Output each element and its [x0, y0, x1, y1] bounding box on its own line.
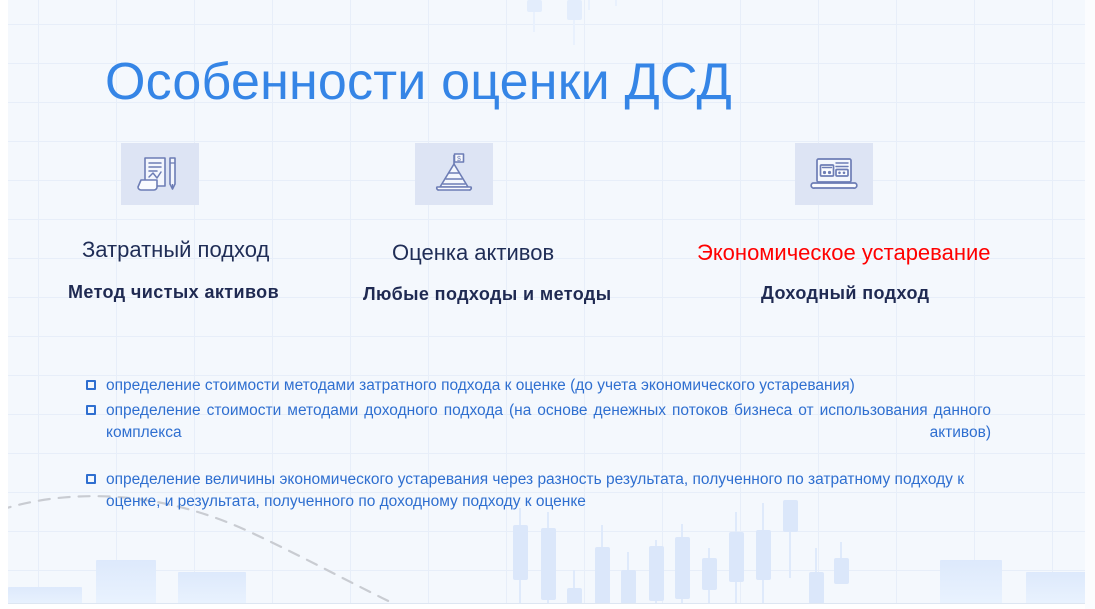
candlestick-wick: [840, 542, 842, 582]
hollow-square-bullet-icon: [86, 380, 96, 390]
list-item: определение стоимости методами доходного…: [86, 400, 991, 466]
slide-left-margin: [0, 0, 8, 609]
presentation-slide: Особенности оценки ДСД Затратный подход …: [0, 0, 1095, 609]
bar-block: [940, 560, 1002, 607]
grid-line-vertical: [38, 0, 39, 609]
slide-right-margin: [1085, 0, 1095, 609]
candlestick-wick: [588, 0, 590, 10]
candlestick-body: [513, 525, 528, 580]
list-item: определение стоимости методами затратног…: [86, 375, 991, 397]
column-subcaption-cost: Метод чистых активов: [68, 282, 279, 303]
chart-baseline: [0, 603, 1095, 604]
svg-text:$: $: [457, 156, 461, 163]
pyramid-with-dollar-flag-icon: $: [415, 143, 493, 205]
column-subcaption-economic: Доходный подход: [761, 283, 929, 304]
approach-column-assets: $: [415, 143, 493, 205]
column-subcaption-assets: Любые подходы и методы: [363, 284, 612, 305]
candlestick-body: [621, 570, 636, 604]
approach-column-economic: [795, 143, 873, 205]
bar-block: [96, 560, 156, 607]
candlestick-body: [675, 537, 690, 599]
list-item-text: определение величины экономического уста…: [106, 469, 991, 513]
candlestick-wick: [573, 570, 575, 604]
candlestick-wick: [627, 552, 629, 604]
grid-line-horizontal: [0, 336, 1095, 337]
candlestick-wick: [601, 525, 603, 604]
grid-line-horizontal: [0, 219, 1095, 220]
document-with-pen-icon: [121, 143, 199, 205]
candlestick-wick: [762, 503, 764, 604]
candlestick-wick: [815, 548, 817, 604]
grid-line-horizontal: [0, 531, 1095, 532]
bar-block: [1026, 572, 1088, 607]
candlestick-body: [809, 572, 824, 604]
hollow-square-bullet-icon: [86, 474, 96, 484]
grid-line-horizontal: [0, 141, 1095, 142]
laptop-screen-icon: [795, 143, 873, 205]
candlestick-body: [729, 532, 744, 582]
column-caption-economic: Экономическое устаревание: [697, 240, 991, 266]
candlestick-wick: [615, 0, 617, 6]
candlestick-body: [649, 546, 664, 601]
grid-line-horizontal: [0, 570, 1095, 571]
candlestick-body: [595, 547, 610, 604]
bullet-list: определение стоимости методами затратног…: [86, 375, 991, 516]
candlestick-body: [834, 558, 849, 584]
candlestick-wick: [681, 524, 683, 604]
bar-block: [178, 572, 246, 607]
column-caption-assets: Оценка активов: [392, 240, 554, 266]
grid-line-vertical: [896, 0, 897, 609]
hollow-square-bullet-icon: [86, 405, 96, 415]
approach-column-cost: [121, 143, 199, 205]
candlestick-wick: [519, 508, 521, 604]
column-caption-cost: Затратный подход: [82, 237, 269, 263]
candlestick-wick: [573, 0, 575, 45]
list-item-text: определение стоимости методами доходного…: [106, 400, 991, 466]
candlestick-wick: [547, 512, 549, 604]
page-title: Особенности оценки ДСД: [105, 52, 732, 112]
candlestick-wick: [655, 540, 657, 604]
grid-line-vertical: [974, 0, 975, 609]
grid-line-vertical: [818, 0, 819, 609]
candlestick-body: [567, 0, 582, 20]
candlestick-wick: [735, 512, 737, 604]
candlestick-wick: [708, 548, 710, 604]
candlestick-body: [567, 588, 582, 604]
list-item: определение величины экономического уста…: [86, 469, 991, 513]
grid-line-horizontal: [0, 24, 1095, 25]
list-item-text: определение стоимости методами затратног…: [106, 375, 991, 397]
candlestick-body: [527, 0, 542, 12]
candlestick-body: [702, 558, 717, 590]
slide-bottom-margin: [0, 604, 1095, 609]
grid-line-vertical: [740, 0, 741, 609]
bar-block: [8, 587, 82, 607]
candlestick-wick: [533, 0, 535, 32]
grid-line-vertical: [1052, 0, 1053, 609]
candlestick-body: [756, 530, 771, 580]
candlestick-body: [541, 528, 556, 600]
